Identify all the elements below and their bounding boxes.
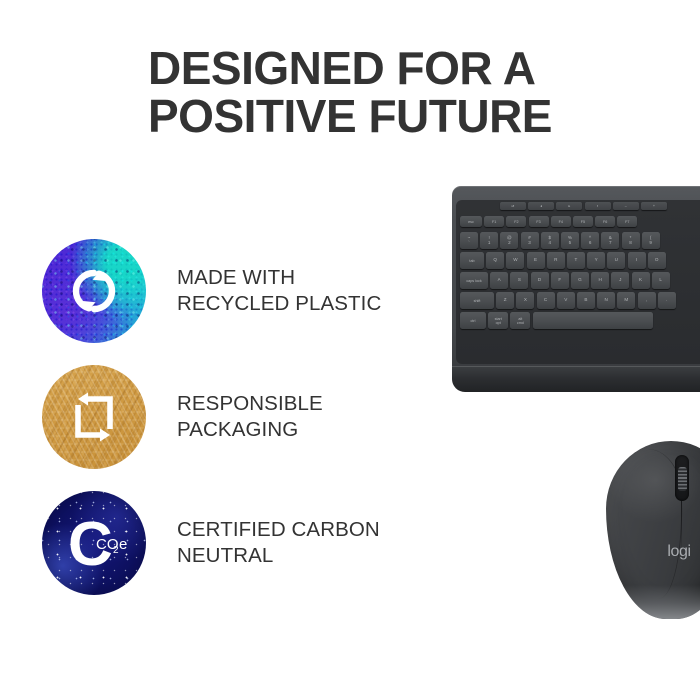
key-h[interactable]: H [591, 272, 609, 289]
key-legend: W [513, 258, 517, 263]
key-x[interactable]: X [516, 292, 534, 309]
key-legend: . [666, 298, 667, 303]
page-title: DESIGNED FOR A POSITIVE FUTURE [148, 44, 618, 141]
key-caps-lock[interactable]: caps lock [460, 272, 488, 289]
key-n[interactable]: N [597, 292, 615, 309]
key-legend: 9 [649, 241, 652, 246]
mouse-shell: logi [606, 441, 700, 619]
keyboard-chassis: ⏯◂▸▪–+ escF1F2F3F4F5F6F7 ~`!1@2#3$4%5^6&… [452, 186, 700, 382]
key-legend: opt [496, 321, 501, 325]
key-a[interactable]: A [490, 272, 508, 289]
keyboard-row-media: ⏯◂▸▪–+ [500, 202, 667, 210]
key-legend: 4 [548, 241, 551, 246]
key-legend: cmd [517, 321, 524, 325]
key-4[interactable]: $4 [541, 232, 559, 249]
key-r[interactable]: R [547, 252, 565, 269]
key-legend: Z [504, 298, 507, 303]
mouse-base-rim [611, 585, 700, 619]
key-legend: F7 [625, 220, 629, 224]
key-legend: I [636, 258, 637, 263]
key-legend: C [544, 298, 547, 303]
key-legend: , [646, 298, 647, 303]
key-legend: 1 [488, 241, 491, 246]
key-f1[interactable]: F1 [484, 216, 504, 227]
key-legend: ◂ [540, 204, 542, 208]
key-b[interactable]: B [577, 292, 595, 309]
recycled-plastic-badge [42, 239, 146, 343]
key-legend: F5 [581, 220, 585, 224]
key-legend: F2 [514, 220, 518, 224]
keyboard-row-bottom: ctrlstartoptaltcmd [460, 312, 653, 329]
key-legend: S [518, 278, 521, 283]
key-legend: F6 [603, 220, 607, 224]
key-legend: K [639, 278, 642, 283]
wireless-keyboard: ⏯◂▸▪–+ escF1F2F3F4F5F6F7 ~`!1@2#3$4%5^6&… [452, 186, 700, 400]
key-legend: F4 [559, 220, 563, 224]
key-z[interactable]: Z [496, 292, 514, 309]
key-j[interactable]: J [611, 272, 629, 289]
key-legend: M [624, 298, 628, 303]
keyboard-base-edge [452, 366, 700, 392]
wireless-mouse: logi [606, 441, 700, 619]
key-l[interactable]: L [652, 272, 670, 289]
key-k[interactable]: K [632, 272, 650, 289]
key-esc[interactable]: esc [460, 216, 482, 227]
key-v[interactable]: V [557, 292, 575, 309]
key-legend: esc [468, 220, 474, 224]
key-`[interactable]: ~` [460, 232, 478, 249]
key-legend: B [584, 298, 587, 303]
key-legend: Y [595, 258, 598, 263]
key-legend: V [564, 298, 567, 303]
key-legend: T [575, 258, 578, 263]
key-3[interactable]: #3 [521, 232, 539, 249]
key-legend: caps lock [466, 279, 481, 283]
key-media-0[interactable]: ⏯ [500, 202, 526, 210]
key-i[interactable]: I [628, 252, 646, 269]
key-legend: F3 [536, 220, 540, 224]
key-legend: 5 [569, 241, 572, 246]
svg-text:e: e [119, 536, 127, 553]
keyboard-row-shift: shiftZXCVBNM,. [460, 292, 676, 309]
carbon-neutral-co2e-icon: C CO 2 e [42, 491, 146, 595]
key-legend: 2 [508, 241, 511, 246]
keyboard-row-number: ~`!1@2#3$4%5^6&7*8(9 [460, 232, 660, 249]
feature-item-recycled-plastic: MADE WITH RECYCLED PLASTIC [42, 228, 442, 354]
key-shift[interactable]: shift [460, 292, 494, 309]
key-legend: N [604, 298, 607, 303]
key-d[interactable]: D [531, 272, 549, 289]
key-w[interactable]: W [506, 252, 524, 269]
key-legend: U [615, 258, 618, 263]
key-legend: ▸ [568, 204, 570, 208]
keyboard-row-qwerty: tabQWERTYUIO [460, 252, 666, 269]
key-legend: F1 [492, 220, 496, 224]
feature-label-certified-carbon-neutral: CERTIFIED CARBON NEUTRAL [177, 517, 380, 569]
key-legend: 7 [609, 241, 612, 246]
key-t[interactable]: T [567, 252, 585, 269]
key-legend: ⏯ [512, 204, 515, 208]
keyboard-row-home: caps lockASDFGHJKL [460, 272, 670, 289]
key-legend: tab [469, 259, 474, 263]
certified-carbon-neutral-badge: C CO 2 e [42, 491, 146, 595]
key-media-2[interactable]: ▸ [556, 202, 582, 210]
key-legend: ` [468, 241, 470, 246]
recycled-plastic-loop-icon [42, 239, 146, 343]
key-f3[interactable]: F3 [529, 216, 549, 227]
key-legend: R [554, 258, 557, 263]
key-bottom-2[interactable]: altcmd [510, 312, 530, 329]
responsible-packaging-badge [42, 365, 146, 469]
key-y[interactable]: Y [587, 252, 605, 269]
key-legend: H [598, 278, 601, 283]
key-legend: X [524, 298, 527, 303]
key-legend: ▪ [597, 204, 598, 208]
key-f2[interactable]: F2 [506, 216, 526, 227]
key-legend: F [558, 278, 561, 283]
key-m[interactable]: M [617, 292, 635, 309]
key-bottom-3[interactable] [533, 312, 653, 329]
key-bottom-1[interactable]: startopt [488, 312, 508, 329]
keyboard-row-function: escF1F2F3F4F5F6F7 [460, 216, 637, 227]
key-7[interactable]: &7 [601, 232, 619, 249]
feature-label-responsible-packaging: RESPONSIBLE PACKAGING [177, 391, 323, 443]
key-u[interactable]: U [607, 252, 625, 269]
key-legend: 3 [528, 241, 531, 246]
key-q[interactable]: Q [486, 252, 504, 269]
key-legend: E [534, 258, 537, 263]
key-legend: ctrl [471, 319, 476, 323]
key-f[interactable]: F [551, 272, 569, 289]
key-media-1[interactable]: ◂ [528, 202, 554, 210]
key-f7[interactable]: F7 [617, 216, 637, 227]
key-legend: – [625, 204, 627, 208]
key-media-4[interactable]: – [613, 202, 639, 210]
feature-label-recycled-plastic: MADE WITH RECYCLED PLASTIC [177, 265, 381, 317]
key-c[interactable]: C [537, 292, 555, 309]
key-legend: J [619, 278, 621, 283]
key-o[interactable]: O [648, 252, 666, 269]
key-2[interactable]: @2 [500, 232, 518, 249]
key-legend: A [498, 278, 501, 283]
key-legend: Q [493, 258, 497, 263]
feature-item-certified-carbon-neutral: C CO 2 e CERTIFIED CARBON NEUTRAL [42, 480, 442, 606]
key-f5[interactable]: F5 [573, 216, 593, 227]
key-1[interactable]: !1 [480, 232, 498, 249]
key-legend: shift [474, 299, 481, 303]
key-s[interactable]: S [510, 272, 528, 289]
key-f6[interactable]: F6 [595, 216, 615, 227]
mouse-brand-logo: logi [667, 543, 690, 561]
key-bottom-0[interactable]: ctrl [460, 312, 486, 329]
key-legend: + [653, 204, 655, 208]
key-legend: G [578, 278, 582, 283]
keyboard-key-deck: ⏯◂▸▪–+ escF1F2F3F4F5F6F7 ~`!1@2#3$4%5^6&… [456, 200, 700, 364]
key-.[interactable]: . [658, 292, 676, 309]
key-f4[interactable]: F4 [551, 216, 571, 227]
key-tab[interactable]: tab [460, 252, 484, 269]
key-5[interactable]: %5 [561, 232, 579, 249]
packaging-box-loop-icon [42, 365, 146, 469]
key-e[interactable]: E [527, 252, 545, 269]
key-legend: O [655, 258, 659, 263]
key-legend: L [659, 278, 662, 283]
key-media-5[interactable]: + [641, 202, 667, 210]
mouse-scroll-wheel [675, 455, 689, 501]
feature-item-responsible-packaging: RESPONSIBLE PACKAGING [42, 354, 442, 480]
key-,[interactable]: , [638, 292, 656, 309]
key-legend: D [538, 278, 541, 283]
key-6[interactable]: ^6 [581, 232, 599, 249]
key-8[interactable]: *8 [622, 232, 640, 249]
key-g[interactable]: G [571, 272, 589, 289]
sustainability-feature-list: MADE WITH RECYCLED PLASTIC RESPONSIBLE P… [42, 228, 442, 606]
key-legend: 8 [629, 241, 632, 246]
key-media-3[interactable]: ▪ [585, 202, 611, 210]
key-9[interactable]: (9 [642, 232, 660, 249]
key-legend: 6 [589, 241, 592, 246]
